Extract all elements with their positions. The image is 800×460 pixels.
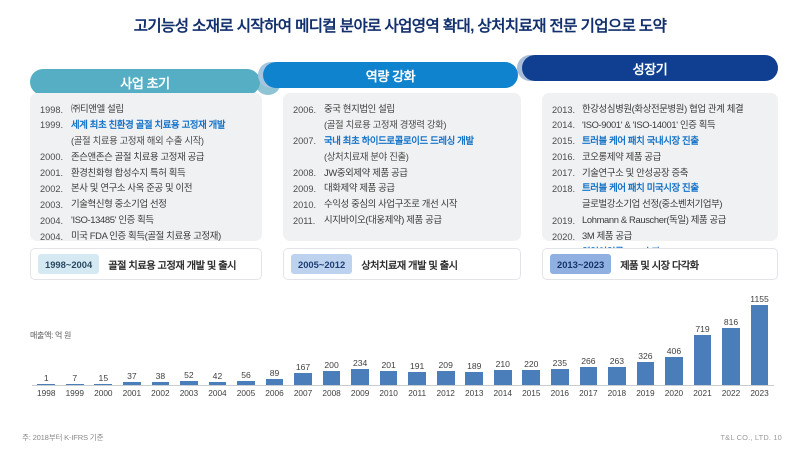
chart-x-tick: 2005 (232, 388, 261, 398)
history-item: 2017.기술연구소 및 안성공장 증축 (552, 166, 770, 181)
history-item-text: (골절 치료용 고정재 경쟁력 강화) (324, 118, 446, 132)
chart-x-tick: 2010 (374, 388, 403, 398)
chart-bar-value: 220 (517, 359, 546, 369)
history-item-text: 환경친화형 합성수지 특허 획득 (71, 166, 185, 180)
history-item: 2014.'ISO-9001' & 'ISO-14001' 인증 획득 (552, 118, 770, 133)
history-item-text: 코오롱제약 제품 공급 (582, 150, 661, 164)
chart-x-tick: 2020 (660, 388, 689, 398)
chart-x-tick: 2018 (603, 388, 632, 398)
chart-bar (722, 328, 740, 385)
history-item: 2019.Lohmann & Rauscher(독일) 제품 공급 (552, 213, 770, 228)
chart-x-tick: 2022 (717, 388, 746, 398)
chart-bar-value: 816 (717, 317, 746, 327)
chart-bar (665, 357, 683, 385)
history-item-text: 시지바이오(대웅제약) 제품 공급 (324, 213, 442, 227)
chart-bar-column: 89 (260, 292, 289, 385)
history-item-year: 2018. (552, 181, 582, 196)
chart-bar-column: 37 (118, 292, 147, 385)
chart-bar-value: 1 (32, 373, 61, 383)
chart-x-tick: 2012 (431, 388, 460, 398)
chart-bar (522, 370, 540, 385)
chart-bar-column: 816 (717, 292, 746, 385)
chart-x-tick: 2002 (146, 388, 175, 398)
history-item: 2000.존슨앤존슨 골절 치료용 고정재 공급 (40, 150, 254, 165)
chart-x-tick: 2017 (574, 388, 603, 398)
history-item-text: 3M 제품 공급 (582, 229, 632, 243)
chart-bar-value: 266 (574, 356, 603, 366)
history-item: 2015.트러블 케어 패치 국내시장 진출 (552, 134, 770, 149)
chart-bar-column: 234 (346, 292, 375, 385)
chart-bar-column: 200 (317, 292, 346, 385)
history-item-year: 2000. (40, 150, 71, 165)
chart-bar-value: 326 (631, 351, 660, 361)
history-item-year: 2016. (552, 150, 582, 165)
history-item: 2001.환경친화형 합성수지 특허 획득 (40, 166, 254, 181)
chart-bar-value: 89 (260, 368, 289, 378)
history-item-text: (상처치료재 분야 진출) (324, 150, 409, 164)
history-item-text: (골절 치료용 고정재 해외 수출 시작) (71, 134, 204, 148)
summary-label-2: 상처치료재 개발 및 출시 (361, 257, 457, 272)
history-panel-3: 2013.한강성심병원(화상전문병원) 협업 관계 체결2014.'ISO-90… (542, 93, 778, 241)
phase-tab-3[interactable]: 성장기 (522, 55, 778, 81)
chart-x-tick: 1999 (61, 388, 90, 398)
history-item-year: 2008. (293, 166, 324, 181)
chart-bar-value: 201 (374, 360, 403, 370)
summary-label-3: 제품 및 시장 다각화 (620, 257, 699, 272)
chart-bar-value: 209 (431, 360, 460, 370)
slide-root: 고기능성 소재로 시작하여 메디컬 분야로 사업영역 확대, 상처치료재 전문 … (0, 0, 800, 460)
history-item: 2004.'ISO-13485' 인증 획득 (40, 213, 254, 228)
history-panel-1: 1998.㈜티앤엘 설립1999.세계 최초 친환경 골절 치료용 고정재 개발… (30, 93, 262, 241)
chart-bar-value: 200 (317, 360, 346, 370)
chart-x-tick: 2003 (175, 388, 204, 398)
history-item-text: 글로벌강소기업 선정(중소벤처기업부) (582, 197, 722, 211)
phase-tab-bar: 사업 초기 역량 강화 성장기 (0, 55, 800, 95)
chart-bar-column: 235 (546, 292, 575, 385)
chart-x-tick: 2016 (546, 388, 575, 398)
history-item-text: 세계 최초 친환경 골절 치료용 고정재 개발 (71, 118, 225, 132)
history-item-text: ㈜티앤엘 설립 (71, 102, 124, 116)
chart-x-tick: 2023 (745, 388, 774, 398)
chart-bar-column: 1155 (745, 292, 774, 385)
chart-bar-value: 210 (489, 359, 518, 369)
chart-bar-column: 201 (374, 292, 403, 385)
chart-bar-value: 263 (603, 356, 632, 366)
history-item-year: 1998. (40, 102, 71, 117)
summary-card-2: 2005~2012 상처치료재 개발 및 출시 (283, 248, 521, 280)
history-item: 글로벌강소기업 선정(중소벤처기업부) (552, 197, 770, 212)
history-item-year: 2007. (293, 134, 324, 149)
history-item-year: 2010. (293, 197, 324, 212)
history-item-text: 중국 현지법인 설립 (324, 102, 395, 116)
chart-baseline (32, 385, 774, 386)
chart-bar-value: 15 (89, 373, 118, 383)
history-item-year: 2014. (552, 118, 582, 133)
chart-bar-value: 42 (203, 371, 232, 381)
history-item-text: Lohmann & Rauscher(독일) 제품 공급 (582, 213, 726, 227)
history-panel-2: 2006.중국 현지법인 설립 (골절 치료용 고정재 경쟁력 강화)2007.… (283, 93, 521, 241)
chart-bar (637, 362, 655, 385)
chart-bar (694, 335, 712, 385)
history-item-year: 2015. (552, 134, 582, 149)
history-item: 2002.본사 및 연구소 사옥 준공 및 이전 (40, 181, 254, 196)
history-item: 2013.한강성심병원(화상전문병원) 협업 관계 체결 (552, 102, 770, 117)
chart-x-tick: 2021 (688, 388, 717, 398)
chart-x-tick: 2006 (260, 388, 289, 398)
history-item-year: 2009. (293, 181, 324, 196)
summary-cards: 1998~2004 골절 치료용 고정재 개발 및 출시 2005~2012 상… (0, 248, 800, 284)
history-item: 2004.미국 FDA 인증 획득(골절 치료용 고정재) (40, 229, 254, 244)
chart-bar-value: 37 (118, 371, 147, 381)
chart-bar-column: 263 (603, 292, 632, 385)
chart-bar-column: 209 (431, 292, 460, 385)
chart-bar-column: 189 (460, 292, 489, 385)
history-item-text: 기술혁신형 중소기업 선정 (71, 197, 167, 211)
history-item-year: 2004. (40, 229, 71, 244)
chart-bar-column: 1 (32, 292, 61, 385)
chart-bar (580, 367, 598, 385)
history-item-year: 2017. (552, 166, 582, 181)
chart-bar (380, 371, 398, 385)
chart-x-tick: 2019 (631, 388, 660, 398)
chart-bar-column: 266 (574, 292, 603, 385)
history-item: 2008.JW중외제약 제품 공급 (293, 166, 513, 181)
summary-period-2: 2005~2012 (291, 254, 352, 274)
history-item-year: 2011. (293, 213, 324, 228)
history-item: 1999.세계 최초 친환경 골절 치료용 고정재 개발 (40, 118, 254, 133)
chart-bar-column: 52 (175, 292, 204, 385)
history-item-year: 2020. (552, 229, 582, 244)
brand-footer: T&L CO., LTD. 10 (720, 433, 782, 442)
summary-period-1: 1998~2004 (38, 254, 99, 274)
chart-bar (551, 369, 569, 385)
history-item-year: 2004. (40, 213, 71, 228)
chart-bar-value: 189 (460, 361, 489, 371)
history-item-year: 2002. (40, 181, 71, 196)
chart-bar (437, 371, 455, 385)
chart-bar-value: 167 (289, 362, 318, 372)
chart-bar-column: 220 (517, 292, 546, 385)
summary-card-3: 2013~2023 제품 및 시장 다각화 (542, 248, 778, 280)
phase-tab-1[interactable]: 사업 초기 (30, 69, 260, 95)
chart-bar-column: 15 (89, 292, 118, 385)
chart-x-tick: 2000 (89, 388, 118, 398)
chart-bar-value: 719 (688, 324, 717, 334)
chart-bar-column: 7 (61, 292, 90, 385)
history-item: 2018.트러블 케어 패치 미국시장 진출 (552, 181, 770, 196)
chart-x-tick: 2007 (289, 388, 318, 398)
history-item: 2007.국내 최초 하이드로콜로이드 드레싱 개발 (293, 134, 513, 149)
chart-bar-column: 210 (489, 292, 518, 385)
revenue-bar-chart: 매출액: 억 원 1715373852425689167200234201191… (0, 292, 800, 417)
history-item-year: 2013. (552, 102, 582, 117)
chart-plot-area: 1715373852425689167200234201191209189210… (32, 292, 774, 386)
summary-period-3: 2013~2023 (550, 254, 611, 274)
chart-bar-value: 191 (403, 361, 432, 371)
chart-x-tick: 2004 (203, 388, 232, 398)
history-item-text: 수익성 중심의 사업구조로 개선 시작 (324, 197, 457, 211)
history-item-text: 본사 및 연구소 사옥 준공 및 이전 (71, 181, 192, 195)
history-item: 1998.㈜티앤엘 설립 (40, 102, 254, 117)
history-item-text: 존슨앤존슨 골절 치료용 고정재 공급 (71, 150, 204, 164)
chart-bar (465, 372, 483, 385)
summary-label-1: 골절 치료용 고정재 개발 및 출시 (108, 257, 236, 272)
chart-x-tick: 2008 (317, 388, 346, 398)
chart-bar (294, 373, 312, 385)
history-item: 2016.코오롱제약 제품 공급 (552, 150, 770, 165)
chart-x-tick: 2013 (460, 388, 489, 398)
chart-bar-value: 7 (61, 373, 90, 383)
summary-card-1: 1998~2004 골절 치료용 고정재 개발 및 출시 (30, 248, 262, 280)
history-item: (골절 치료용 고정재 경쟁력 강화) (293, 118, 513, 133)
history-panels: 1998.㈜티앤엘 설립1999.세계 최초 친환경 골절 치료용 고정재 개발… (0, 93, 800, 243)
chart-bar (494, 370, 512, 385)
chart-bar-value: 234 (346, 358, 375, 368)
chart-bar-column: 42 (203, 292, 232, 385)
history-item-text: 국내 최초 하이드로콜로이드 드레싱 개발 (324, 134, 474, 148)
chart-bar-value: 406 (660, 346, 689, 356)
chart-bar-value: 56 (232, 370, 261, 380)
history-item-text: 기술연구소 및 안성공장 증축 (582, 166, 688, 180)
chart-bar-value: 52 (175, 370, 204, 380)
chart-x-tick: 1998 (32, 388, 61, 398)
history-item: 2003.기술혁신형 중소기업 선정 (40, 197, 254, 212)
phase-tab-2[interactable]: 역량 강화 (263, 62, 518, 88)
history-item: (상처치료재 분야 진출) (293, 150, 513, 165)
footnote: 주: 2018부터 K-IFRS 기준 (22, 432, 103, 443)
chart-x-tick: 2011 (403, 388, 432, 398)
chart-bar (351, 369, 369, 385)
history-item: (골절 치료용 고정재 해외 수출 시작) (40, 134, 254, 149)
history-item-year: 2003. (40, 197, 71, 212)
chart-x-tick: 2015 (517, 388, 546, 398)
history-item-year: 2001. (40, 166, 71, 181)
history-item-year: 2019. (552, 213, 582, 228)
history-item-text: JW중외제약 제품 공급 (324, 166, 408, 180)
chart-bar-column: 167 (289, 292, 318, 385)
chart-x-tick: 2009 (346, 388, 375, 398)
chart-x-tick: 2014 (489, 388, 518, 398)
history-item-text: 대화제약 제품 공급 (324, 181, 395, 195)
history-item: 2010.수익성 중심의 사업구조로 개선 시작 (293, 197, 513, 212)
chart-bar-column: 719 (688, 292, 717, 385)
chart-bar-value: 235 (546, 358, 575, 368)
history-item-text: 미국 FDA 인증 획득(골절 치료용 고정재) (71, 229, 221, 243)
history-item: 2006.중국 현지법인 설립 (293, 102, 513, 117)
history-item-text: 트러블 케어 패치 국내시장 진출 (582, 134, 699, 148)
chart-bar-value: 1155 (745, 294, 774, 304)
history-item-year: 1999. (40, 118, 71, 133)
chart-bar (751, 305, 769, 385)
history-item: 2009.대화제약 제품 공급 (293, 181, 513, 196)
history-item-text: 'ISO-13485' 인증 획득 (71, 213, 154, 227)
chart-bar-value: 38 (146, 371, 175, 381)
chart-bar (323, 371, 341, 385)
chart-bar-column: 326 (631, 292, 660, 385)
chart-bar-column: 406 (660, 292, 689, 385)
chart-x-tick: 2001 (118, 388, 147, 398)
history-item-text: 트러블 케어 패치 미국시장 진출 (582, 181, 699, 195)
chart-bars: 1715373852425689167200234201191209189210… (32, 292, 774, 385)
chart-bar-column: 191 (403, 292, 432, 385)
history-item: 2020.3M 제품 공급 (552, 229, 770, 244)
history-item-text: 'ISO-9001' & 'ISO-14001' 인증 획득 (582, 118, 715, 132)
page-title: 고기능성 소재로 시작하여 메디컬 분야로 사업영역 확대, 상처치료재 전문 … (0, 14, 800, 36)
chart-bar-column: 56 (232, 292, 261, 385)
chart-bar (408, 372, 426, 385)
chart-bar (608, 367, 626, 385)
chart-x-axis: 1998199920002001200220032004200520062007… (32, 388, 774, 398)
history-item: 2011.시지바이오(대웅제약) 제품 공급 (293, 213, 513, 228)
chart-bar-column: 38 (146, 292, 175, 385)
history-item-year: 2006. (293, 102, 324, 117)
history-item-text: 한강성심병원(화상전문병원) 협업 관계 체결 (582, 102, 743, 116)
